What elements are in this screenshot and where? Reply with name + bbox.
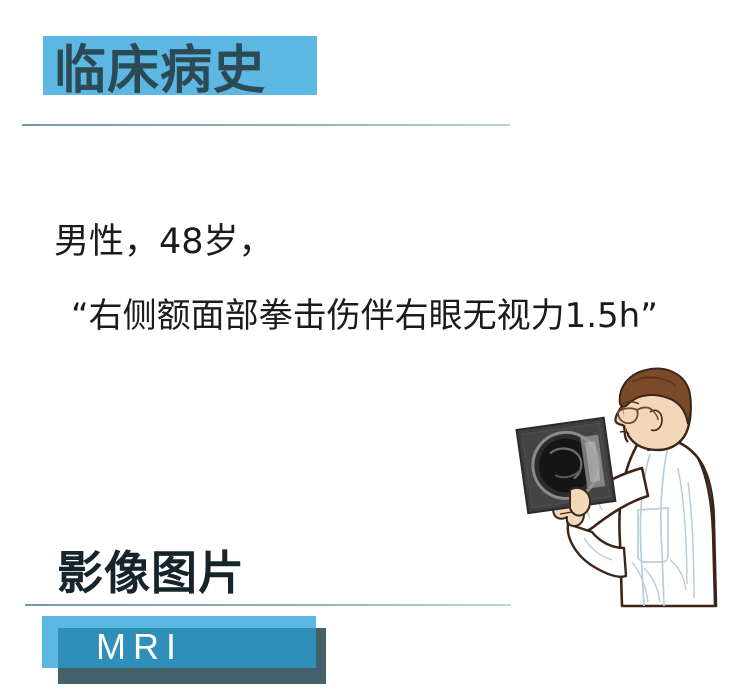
imaging-title: 影像图片 [57, 550, 245, 596]
case-complaint-text: “右侧额面部拳击伤伴右眼无视力1.5h” [71, 296, 658, 337]
slide-canvas: 临床病史 男性，48岁， “右侧额面部拳击伤伴右眼无视力1.5h” [0, 0, 751, 696]
imaging-header: 影像图片 MRI [0, 540, 751, 696]
clinical-history-title: 临床病史 [54, 45, 266, 97]
imaging-divider [25, 604, 511, 606]
clinical-history-divider [22, 124, 510, 126]
mri-modality-label: MRI [96, 624, 183, 670]
clinical-history-header: 临床病史 [0, 0, 751, 140]
case-demographics-text: 男性，48岁， [54, 221, 274, 263]
